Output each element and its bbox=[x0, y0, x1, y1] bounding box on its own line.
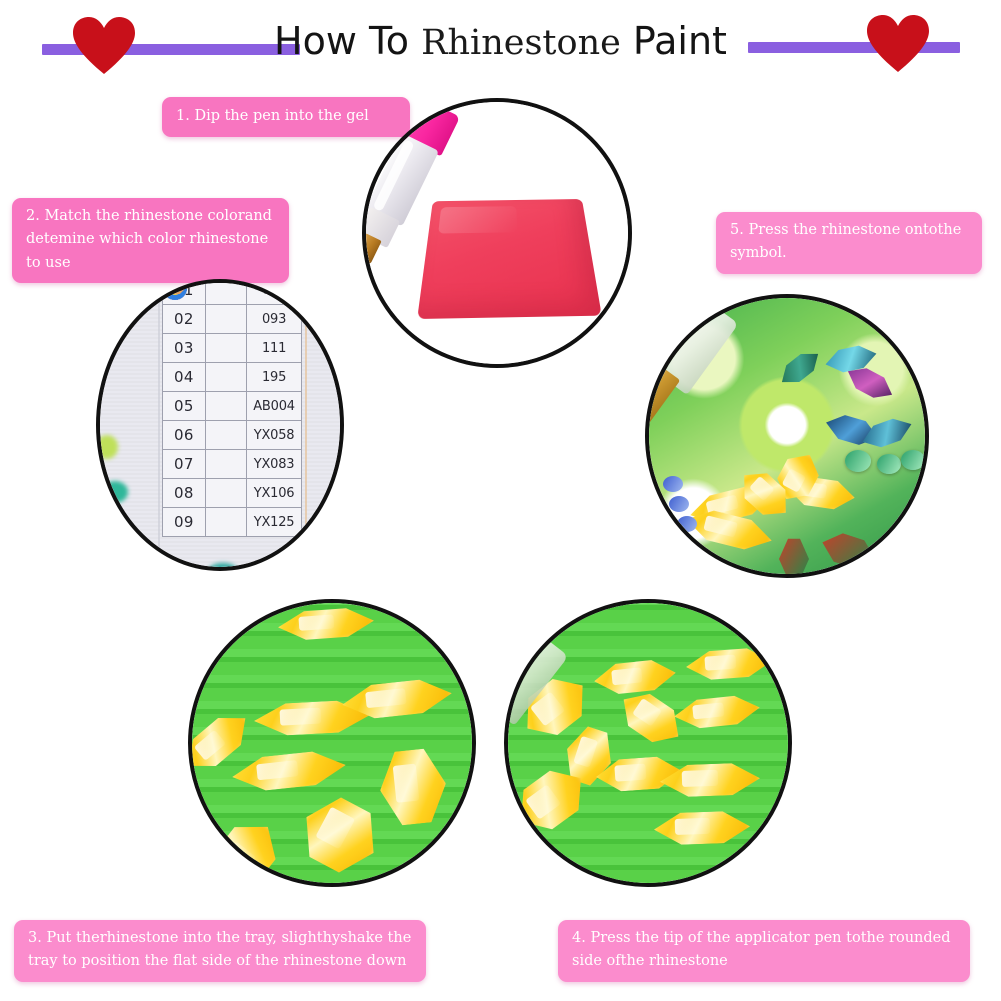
row-symbol bbox=[205, 283, 246, 305]
row-symbol bbox=[205, 305, 246, 334]
table-row: 02093 bbox=[163, 305, 302, 334]
step-4-image bbox=[504, 599, 792, 887]
row-number: 09 bbox=[163, 508, 206, 537]
step-3-label: 3. Put therhinestone into the tray, slig… bbox=[14, 920, 426, 982]
page-title: How To Rhinestone Paint bbox=[0, 22, 1001, 61]
row-symbol bbox=[205, 479, 246, 508]
row-code: 195 bbox=[247, 363, 302, 392]
row-symbol bbox=[205, 363, 246, 392]
table-row: 03111 bbox=[163, 334, 302, 363]
table-row: 09YX125 bbox=[163, 508, 302, 537]
row-number: 06 bbox=[163, 421, 206, 450]
step-2-image: 0102002093031110419505AB00406YX05807YX08… bbox=[96, 279, 344, 571]
row-code: 111 bbox=[247, 334, 302, 363]
gel-pad bbox=[417, 199, 602, 319]
row-symbol bbox=[205, 508, 246, 537]
infographic-page: How To Rhinestone Paint 1. Dip the pen i… bbox=[0, 0, 1001, 1001]
row-symbol bbox=[205, 421, 246, 450]
row-number: 08 bbox=[163, 479, 206, 508]
row-number: 02 bbox=[163, 305, 206, 334]
row-number: 07 bbox=[163, 450, 206, 479]
step-1-image bbox=[362, 98, 632, 368]
row-number: 05 bbox=[163, 392, 206, 421]
table-row: 08YX106 bbox=[163, 479, 302, 508]
page-title-part1: How To bbox=[274, 19, 421, 63]
row-number: 03 bbox=[163, 334, 206, 363]
step-4-label: 4. Press the tip of the applicator pen t… bbox=[558, 920, 970, 982]
row-symbol bbox=[205, 450, 246, 479]
row-symbol bbox=[205, 392, 246, 421]
page-title-part2: Rhinestone bbox=[421, 23, 621, 63]
row-symbol bbox=[205, 334, 246, 363]
step-3-image bbox=[188, 599, 476, 887]
row-code: YX106 bbox=[247, 479, 302, 508]
table-row: 04195 bbox=[163, 363, 302, 392]
step-5-label: 5. Press the rhinestone ontothe symbol. bbox=[716, 212, 982, 274]
row-number: 04 bbox=[163, 363, 206, 392]
table-row: 05AB004 bbox=[163, 392, 302, 421]
row-code: 093 bbox=[247, 305, 302, 334]
step-2-label: 2. Match the rhinestone colorand detemin… bbox=[12, 198, 289, 283]
row-code: AB004 bbox=[247, 392, 302, 421]
row-code: 020 bbox=[247, 283, 302, 305]
table-row: 06YX058 bbox=[163, 421, 302, 450]
page-title-part3: Paint bbox=[621, 19, 727, 63]
table-row: 07YX083 bbox=[163, 450, 302, 479]
row-code: YX125 bbox=[247, 508, 302, 537]
leaf-icon bbox=[163, 283, 187, 300]
color-code-table: 0102002093031110419505AB00406YX05807YX08… bbox=[162, 283, 302, 537]
step-5-image bbox=[645, 294, 929, 578]
row-code: YX083 bbox=[247, 450, 302, 479]
row-code: YX058 bbox=[247, 421, 302, 450]
